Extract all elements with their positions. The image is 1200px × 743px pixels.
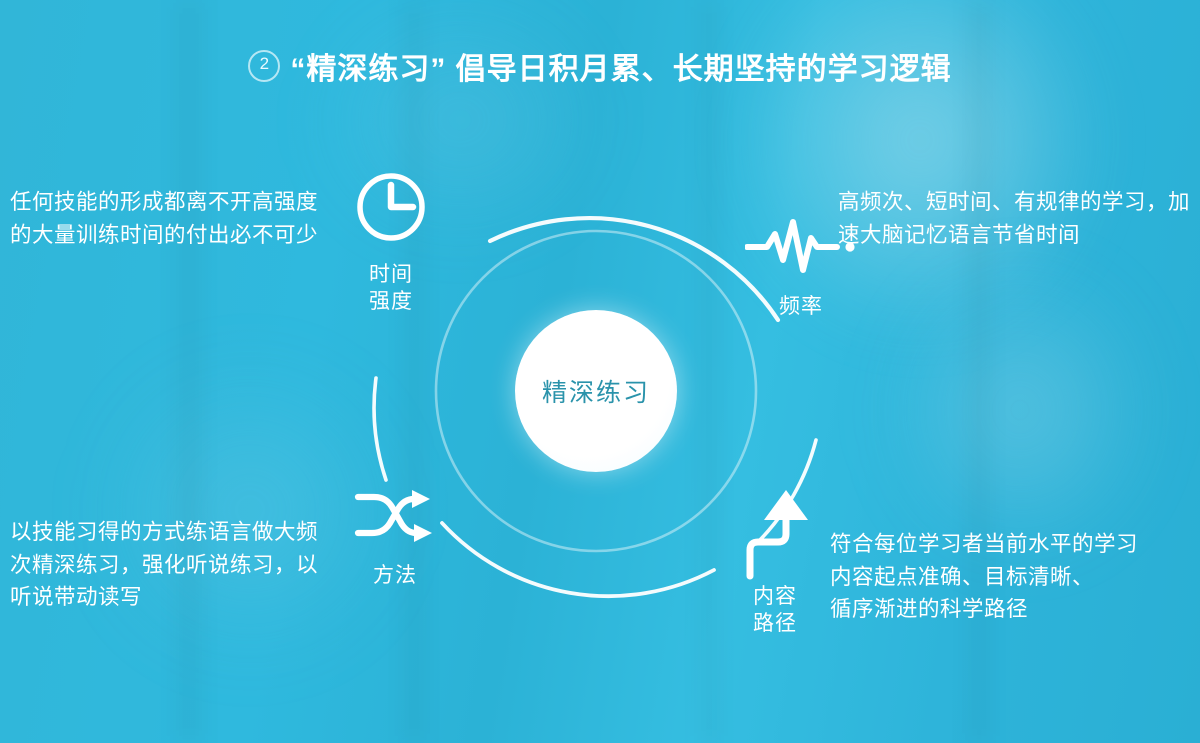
page-title: 2 “精深练习” 倡导日积月累、长期坚持的学习逻辑 [0,44,1200,88]
description-content-path: 符合每位学习者当前水平的学习 内容起点准确、目标清晰、 循序渐进的科学路径 [830,528,1200,626]
node-method-label: 方法 [373,563,417,590]
title-number-badge: 2 [248,50,280,82]
node-time-intensity[interactable]: 时间 强度 [352,168,430,316]
outer-arc-bottom [442,523,714,596]
clock-icon [352,168,430,246]
node-time-intensity-label: 时间 强度 [369,262,413,316]
background-band [968,0,990,743]
shuffle-icon [352,487,438,549]
node-content-path-label: 内容 路径 [753,584,797,638]
page-title-text: “精深练习” 倡导日积月累、长期坚持的学习逻辑 [290,44,951,88]
description-frequency: 高频次、短时间、有规律的学习，加速大脑记忆语言节省时间 [838,186,1198,251]
outer-arc-left [374,378,386,480]
description-method: 以技能习得的方式练语言做大频次精深练习，强化听说练习，以听说带动读写 [10,516,330,614]
node-content-path[interactable]: 内容 路径 [738,488,812,638]
pulse-icon [745,216,857,278]
slide-canvas: 2 “精深练习” 倡导日积月累、长期坚持的学习逻辑 任何技能的形成都离不开高强度… [0,0,1200,743]
outer-arc-top [490,218,778,320]
description-time-intensity: 任何技能的形成都离不开高强度的大量训练时间的付出必不可少 [10,186,330,251]
path-arrow-icon [738,488,812,580]
node-frequency[interactable]: 频率 [745,216,857,321]
center-node: 精深练习 [515,310,677,472]
center-node-label: 精深练习 [542,373,650,409]
node-frequency-label: 频率 [779,294,823,321]
node-method[interactable]: 方法 [352,487,438,590]
background-band [176,0,202,743]
